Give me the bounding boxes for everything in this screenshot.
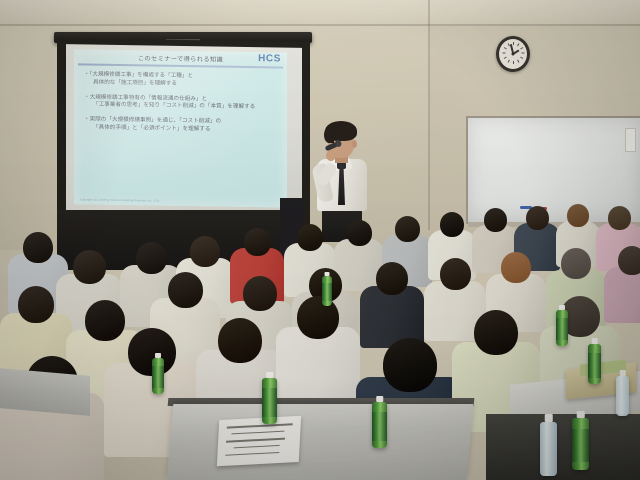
slide-body: ・「大規模修繕工事」を構成する「工種」と 具体的な「施工項目」を理解する ・大規… (84, 71, 279, 142)
water-bottle (540, 422, 557, 476)
presenter-hand (326, 150, 336, 161)
seminar-room-photo: このセミナーで得られる知識 HCS ・「大規模修繕工事」を構成する「工種」と 具… (0, 0, 640, 480)
bottle-cap (266, 372, 274, 378)
bottle-label (322, 283, 332, 302)
hcs-logo: HCS (258, 53, 281, 64)
green-tea-bottle (322, 276, 332, 306)
bottle-cap (591, 338, 598, 344)
clock-center-pin (512, 53, 515, 56)
audience-member-head (297, 296, 339, 339)
audience-member-head (376, 262, 408, 295)
audience-member-head (618, 246, 640, 275)
ceiling (0, 0, 640, 26)
green-tea-bottle (572, 418, 589, 470)
bottle-label (372, 412, 387, 441)
wall-corner-seam (428, 0, 430, 230)
projection-screen: このセミナーで得られる知識 HCS ・「大規模修繕工事」を構成する「工種」と 具… (57, 32, 310, 227)
green-tea-bottle (556, 310, 568, 346)
audience-member-head (18, 286, 54, 323)
audience-member-head (218, 318, 262, 363)
projected-slide: このセミナーで得られる知識 HCS ・「大規模修繕工事」を構成する「工種」と 具… (74, 49, 287, 207)
audience-member-head (526, 206, 549, 230)
bottle-cap (376, 396, 384, 402)
screen-frame: このセミナーで得られる知識 HCS ・「大規模修繕工事」を構成する「工種」と 具… (57, 38, 310, 232)
slide-bullet-1: ・「大規模修繕工事」を構成する「工種」と 具体的な「施工項目」を理解する (84, 71, 279, 89)
audience-member-head (440, 212, 464, 237)
green-tea-bottle (372, 402, 387, 448)
green-tea-bottle (262, 378, 277, 424)
audience-member-head (484, 208, 507, 232)
green-tea-bottle (588, 344, 601, 384)
bottle-label (152, 366, 164, 388)
slide-copyright-footer: Copyright (C) 2009 by Home Consulting So… (80, 198, 160, 202)
bullet-2-line-2: 「工事業者の思考」を知り「コスト削減」の「本質」を理解する (84, 102, 279, 113)
wall-clock-icon (496, 36, 530, 72)
audience-member-head (567, 204, 589, 227)
bottle-cap (155, 353, 161, 358)
audience-member-head (73, 250, 106, 284)
audience-member-head (474, 310, 518, 355)
audience-member-head (501, 252, 531, 283)
audience-member-head (168, 272, 203, 308)
audience-member-head (347, 220, 372, 246)
slide-title: このセミナーで得られる知識 (74, 52, 287, 64)
audience-member-head (136, 242, 167, 274)
bottle-cap (576, 411, 585, 418)
audience-member-head (243, 276, 277, 311)
handout-document (217, 416, 301, 466)
presenter-ear (352, 140, 357, 148)
bottle-cap (559, 305, 565, 310)
audience-member-head (190, 236, 220, 267)
audience-member-head (23, 232, 53, 263)
audience-member-head (561, 248, 591, 279)
bottle-label (588, 353, 601, 378)
slide-bullet-3: ・実際の「大規模修繕事例」を通じ、「コスト削減」の 「具体的手順」と「必須ポイン… (84, 117, 279, 135)
audience-member-head (440, 258, 471, 290)
water-bottle (616, 376, 629, 416)
slide-bullet-2: ・大規模修繕工事特有の「情報流通の仕組み」と 「工事業者の思考」を知り「コスト削… (84, 94, 279, 112)
audience-member-head (244, 228, 271, 256)
green-tea-bottle (152, 358, 164, 394)
bottle-label (262, 388, 277, 417)
audience-member-head (608, 206, 631, 230)
front-table (167, 404, 474, 480)
screen-surface: このセミナーで得られる知識 HCS ・「大規模修繕工事」を構成する「工種」と 具… (66, 44, 302, 226)
bottle-cap (544, 414, 553, 422)
bottle-cap (619, 370, 626, 376)
whiteboard-eraser-icon (625, 128, 636, 152)
presenter-hair (325, 121, 357, 141)
bottle-label (556, 318, 568, 340)
audience-member-head (383, 338, 437, 392)
audience-member-head (297, 224, 323, 251)
table-right-front (486, 414, 640, 480)
bottle-label (572, 429, 589, 461)
audience-member-head (395, 216, 420, 242)
bottle-cap (325, 272, 330, 276)
wall-ceiling-seam (0, 24, 640, 26)
table-left (0, 368, 90, 416)
